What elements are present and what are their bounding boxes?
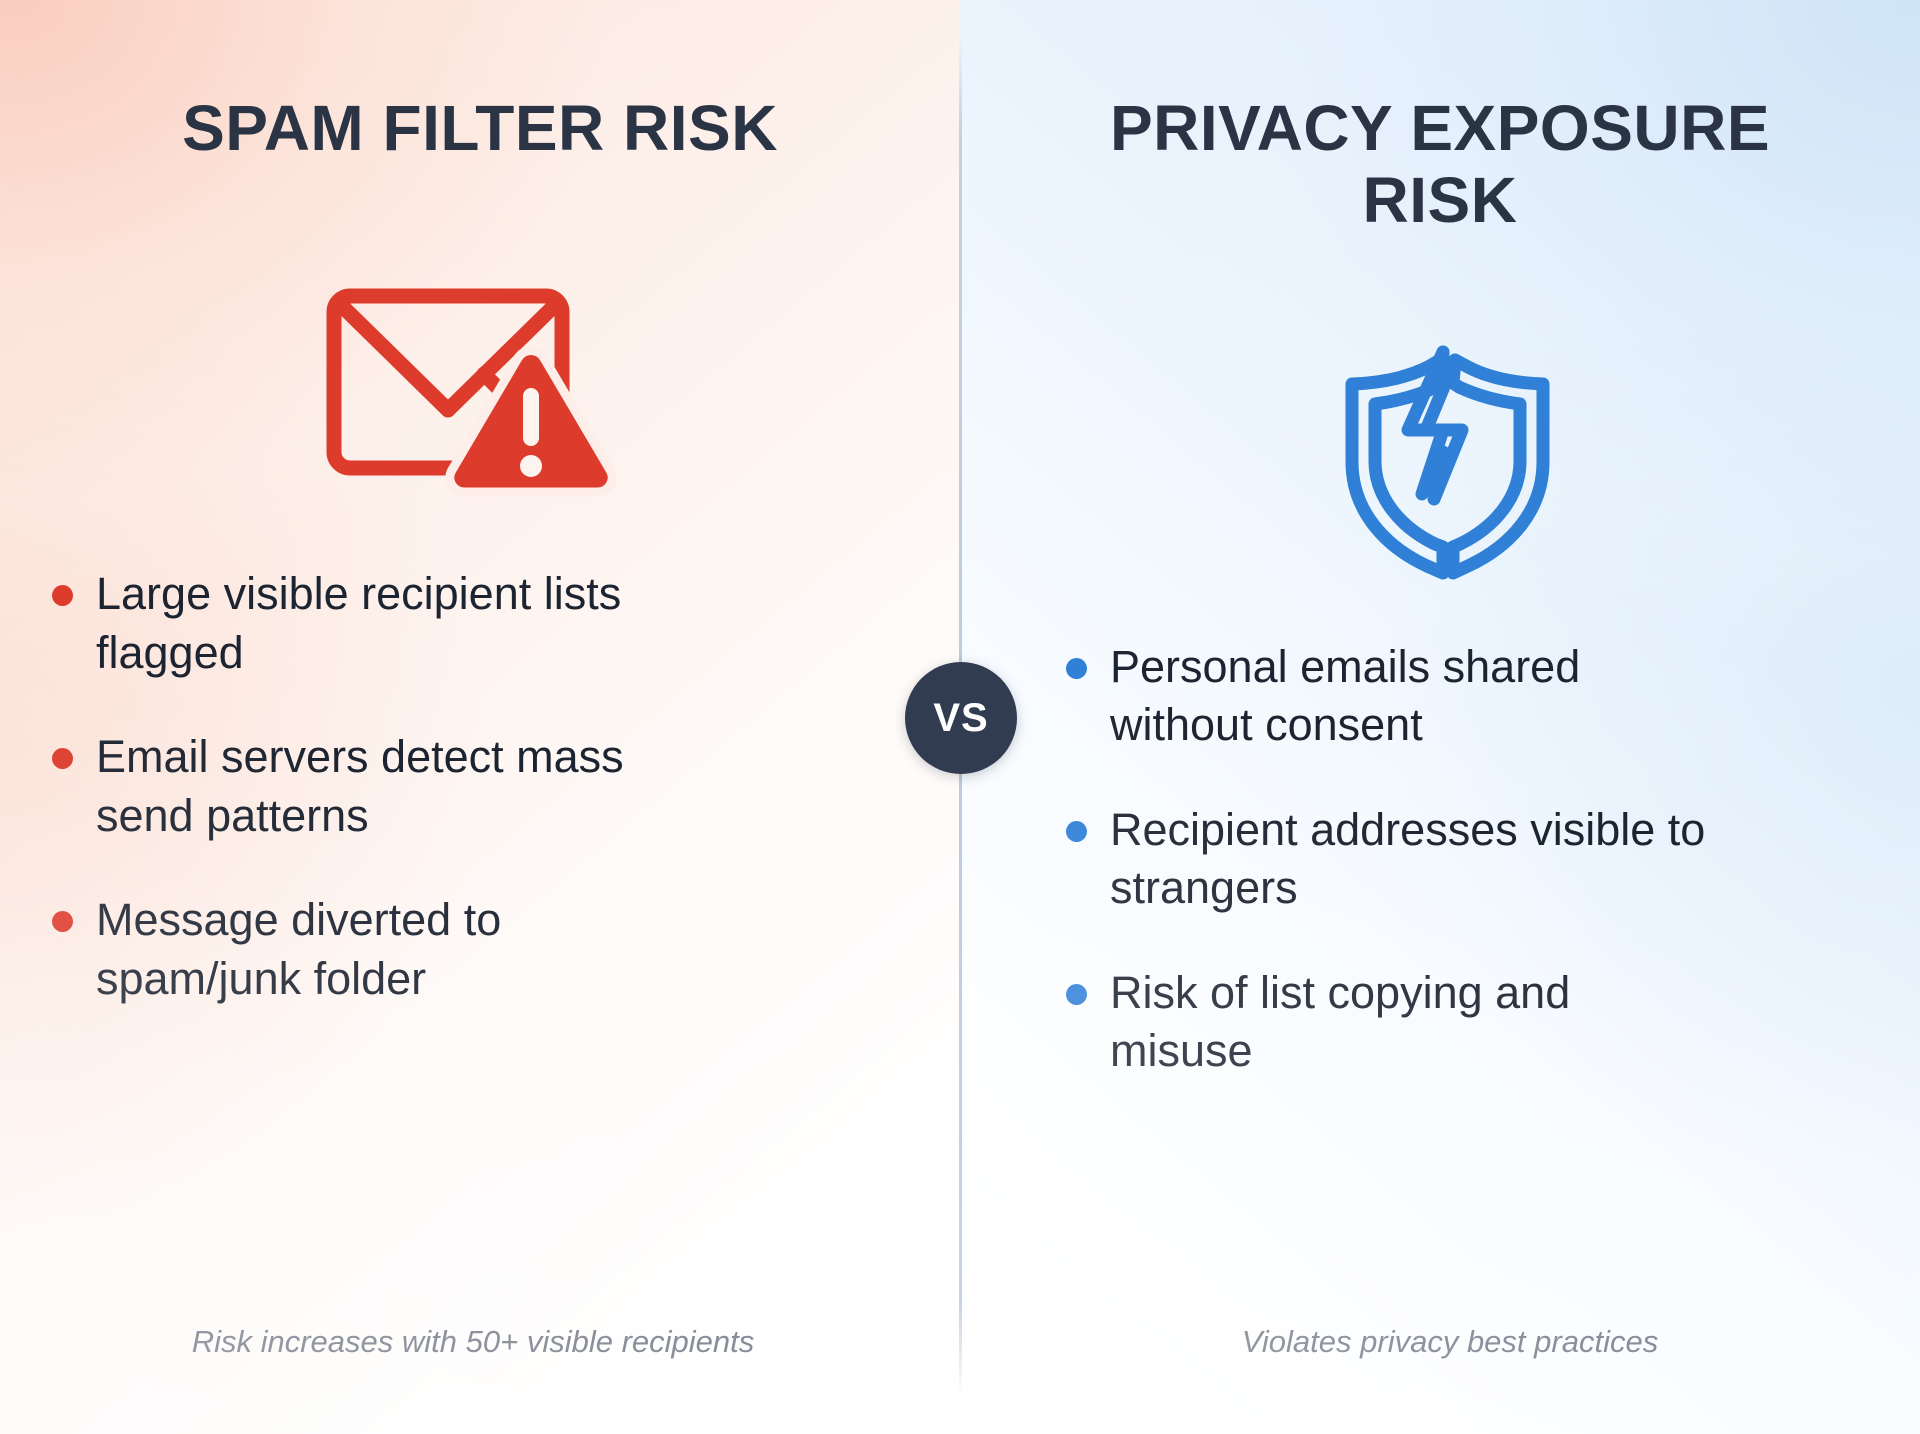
list-item: Recipient addresses visible to strangers: [1058, 801, 1718, 918]
list-item-label: Personal emails shared without consent: [1110, 641, 1580, 751]
comparison-infographic: SPAM FILTER RISK Large v: [0, 0, 1920, 1434]
list-item: Personal emails shared without consent: [1058, 638, 1718, 755]
right-footnote: Violates privacy best practices: [960, 1324, 1920, 1360]
right-list-wrap: Personal emails shared without consent R…: [960, 638, 1920, 1081]
left-list-wrap: Large visible recipient lists flagged Em…: [0, 565, 960, 1008]
left-bullet-list: Large visible recipient lists flagged Em…: [44, 565, 704, 1008]
list-item: Email servers detect mass send patterns: [44, 728, 704, 845]
right-bullet-list: Personal emails shared without consent R…: [1058, 638, 1718, 1081]
list-item-label: Recipient addresses visible to strangers: [1110, 804, 1705, 914]
envelope-warning-icon: [324, 266, 624, 506]
list-item: Risk of list copying and misuse: [1058, 964, 1718, 1081]
left-footnote: Risk increases with 50+ visible recipien…: [0, 1324, 960, 1360]
bullet-dot-icon: [52, 911, 73, 932]
list-item-label: Message diverted to spam/junk folder: [96, 894, 501, 1004]
vs-badge: VS: [905, 662, 1017, 774]
left-panel-spam-filter-risk: SPAM FILTER RISK Large v: [0, 0, 960, 1434]
list-item-label: Email servers detect mass send patterns: [96, 731, 624, 841]
right-panel-title: PRIVACY EXPOSURE RISK: [1080, 92, 1800, 237]
left-icon-area: [0, 221, 960, 551]
list-item: Message diverted to spam/junk folder: [44, 891, 704, 1008]
list-item-label: Large visible recipient lists flagged: [96, 568, 621, 678]
broken-shield-icon: [1322, 334, 1572, 584]
bullet-dot-icon: [1066, 658, 1087, 679]
list-item: Large visible recipient lists flagged: [44, 565, 704, 682]
right-panel-privacy-exposure-risk: PRIVACY EXPOSURE RISK Personal emails sh…: [960, 0, 1920, 1434]
bullet-dot-icon: [1066, 984, 1087, 1005]
right-icon-area: [960, 294, 1920, 624]
bullet-dot-icon: [1066, 821, 1087, 842]
list-item-label: Risk of list copying and misuse: [1110, 967, 1570, 1077]
left-panel-title: SPAM FILTER RISK: [120, 92, 840, 164]
bullet-dot-icon: [52, 585, 73, 606]
bullet-dot-icon: [52, 748, 73, 769]
